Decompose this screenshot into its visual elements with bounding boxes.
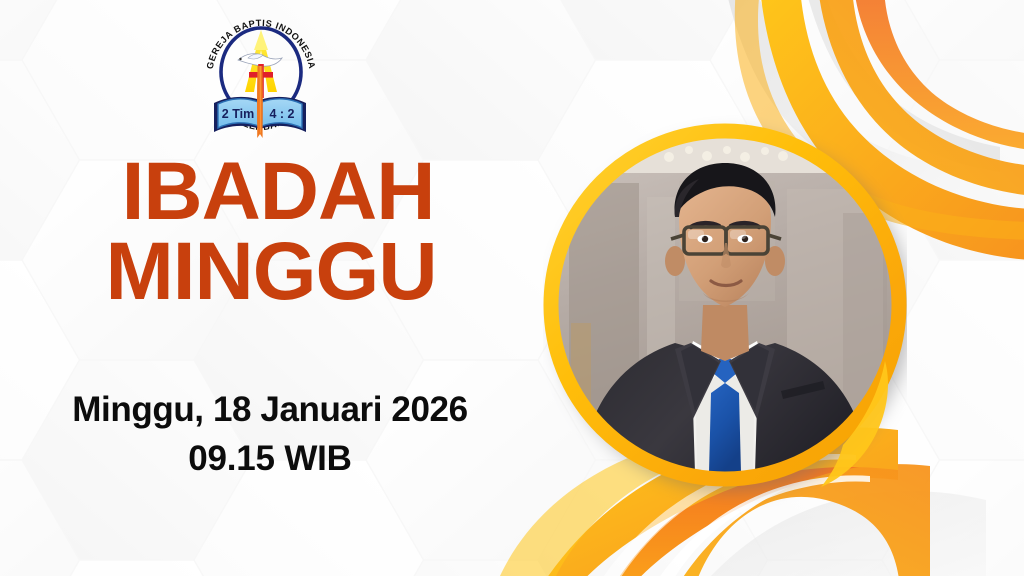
logo-bookmark-icon xyxy=(257,66,263,138)
neck xyxy=(701,305,749,361)
church-logo: GEREJA BAPTIS INDONESIA PALEMBANG xyxy=(198,6,324,144)
service-date: Minggu, 18 Januari 2026 xyxy=(0,388,540,433)
worship-announcement-poster: GEREJA BAPTIS INDONESIA PALEMBANG xyxy=(0,0,1024,576)
service-time: 09.15 WIB xyxy=(0,437,540,482)
title-line-1: IBADAH xyxy=(16,152,540,232)
speaker-portrait-frame xyxy=(543,93,907,517)
page-title: IBADAH MINGGU xyxy=(0,152,540,313)
logo-verse-left: 2 Tim xyxy=(222,107,254,121)
speaker-photo xyxy=(557,137,893,473)
title-line-2: MINGGU xyxy=(2,232,540,312)
service-schedule: Minggu, 18 Januari 2026 09.15 WIB xyxy=(0,388,540,482)
logo-verse-right: 4 : 2 xyxy=(269,107,294,121)
